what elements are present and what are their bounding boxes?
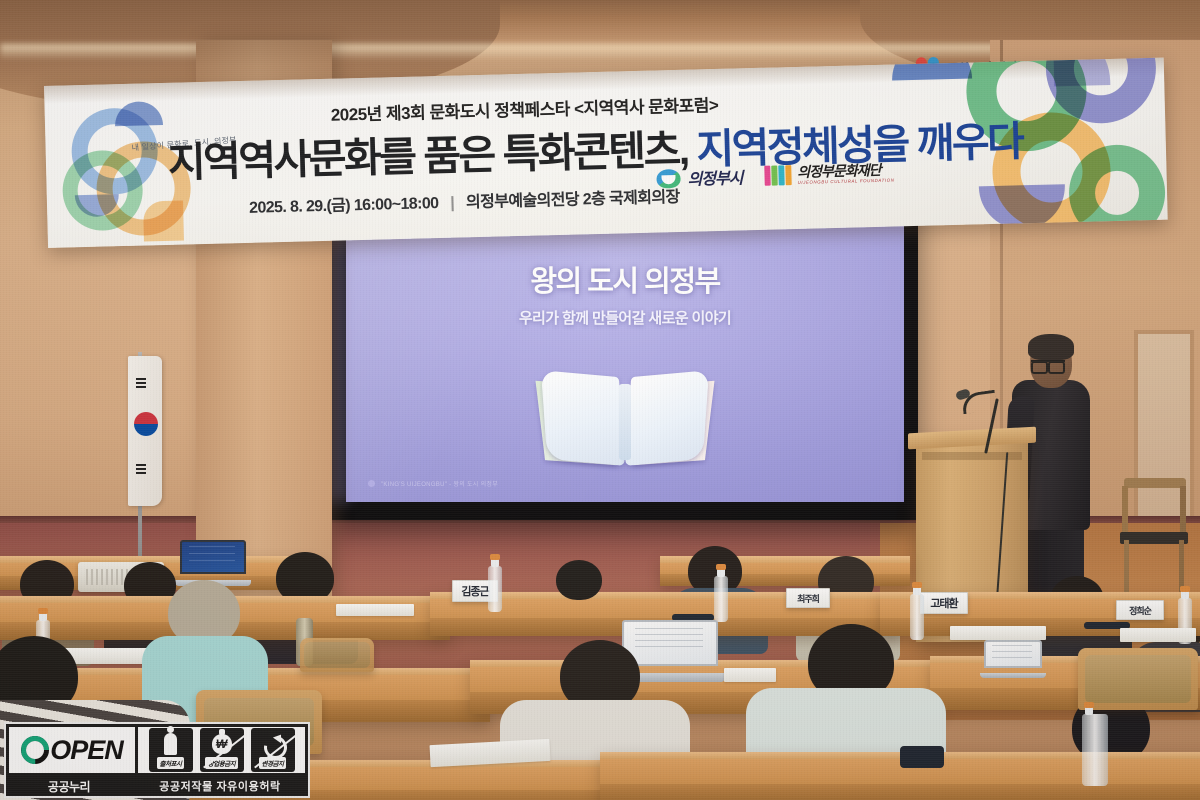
water-bottle bbox=[714, 576, 728, 622]
kogl-license-badge: OPEN 출처표시 ₩ 상업용금지 변경금지 공공 bbox=[4, 722, 310, 798]
water-bottle bbox=[910, 594, 924, 640]
banner-separator: | bbox=[442, 194, 462, 211]
no-derivative-icon: 변경금지 bbox=[251, 728, 295, 772]
flag-trigram bbox=[136, 472, 146, 474]
notepad bbox=[724, 668, 776, 682]
glasses-icon bbox=[1031, 360, 1065, 369]
flag-trigram bbox=[136, 382, 146, 384]
book-page-left bbox=[541, 370, 625, 466]
open-circle-icon bbox=[21, 736, 49, 764]
logo-foundation-text: 의정부문화재단 bbox=[797, 162, 894, 178]
no-commercial-icon: ₩ 상업용금지 bbox=[200, 728, 244, 772]
nameplate-text: 최주희 bbox=[797, 592, 819, 605]
flag-trigram bbox=[136, 468, 146, 470]
book-page-right bbox=[625, 370, 709, 466]
open-book-illustration bbox=[540, 358, 710, 462]
foundation-logo-icon bbox=[764, 165, 791, 186]
nameplate-text: 정희순 bbox=[1129, 604, 1151, 617]
credit-dot-icon bbox=[368, 480, 375, 487]
logo-uijeongbu-city-text: 의정부시 bbox=[687, 164, 742, 189]
city-logo-icon bbox=[656, 168, 680, 188]
flag-trigram bbox=[136, 378, 146, 380]
logo-foundation-english: UIJEONGBU CULTURAL FOUNDATION bbox=[798, 178, 895, 185]
nameplate: 최주희 bbox=[786, 588, 830, 608]
nameplate-text: 김종근 bbox=[461, 583, 488, 599]
document-paper bbox=[336, 604, 414, 616]
slide-credit-text: "KING'S UIJEONGBU" - 왕의 도시 의정부 bbox=[381, 479, 498, 488]
laptop[interactable] bbox=[984, 640, 1042, 678]
flag-trigram bbox=[136, 386, 146, 388]
projection-screen: 왕의 도시 의정부 우리가 함께 만들어갈 새로운 이야기 "KING'S UI… bbox=[346, 210, 904, 502]
banner-date: 2025. 8. 29.(금) 16:00~18:00 bbox=[249, 195, 439, 217]
water-bottle bbox=[488, 566, 502, 612]
kogl-condition-label: 출처표시 bbox=[157, 757, 185, 769]
photo-scene: 왕의 도시 의정부 우리가 함께 만들어갈 새로운 이야기 "KING'S UI… bbox=[0, 0, 1200, 800]
logo-uijeongbu-city: 의정부시 bbox=[656, 164, 742, 190]
chair-leg-left bbox=[1124, 540, 1129, 594]
logo-cultural-foundation: 의정부문화재단 UIJEONGBU CULTURAL FOUNDATION bbox=[764, 162, 894, 186]
chair-seat bbox=[1120, 532, 1188, 544]
attribution-icon: 출처표시 bbox=[149, 728, 193, 772]
nameplate-text: 고태환 bbox=[930, 595, 957, 611]
phone[interactable] bbox=[900, 746, 944, 768]
nameplate: 정희순 bbox=[1116, 600, 1164, 620]
kogl-condition-icons: 출처표시 ₩ 상업용금지 변경금지 bbox=[138, 727, 305, 773]
audience-chair bbox=[300, 638, 374, 672]
kogl-brand-sub: 공공누리 bbox=[6, 778, 132, 795]
chair-back bbox=[1124, 478, 1186, 488]
kogl-brand-text: OPEN bbox=[50, 737, 123, 764]
banner-logos: 의정부시 의정부문화재단 UIJEONGBU CULTURAL FOUNDATI… bbox=[656, 161, 894, 191]
audience-chair bbox=[1078, 648, 1198, 710]
slide-title: 왕의 도시 의정부 bbox=[346, 258, 904, 300]
slide-subtitle: 우리가 함께 만들어갈 새로운 이야기 bbox=[346, 307, 904, 328]
banner-title-part1: 지역역사문화를 품은 특화콘텐츠, bbox=[167, 127, 688, 186]
document-paper bbox=[950, 626, 1046, 640]
book-spine bbox=[619, 384, 631, 460]
laptop[interactable] bbox=[180, 540, 246, 586]
event-banner: 내 일상이 문화로, 도시, 의정부 2025년 제3회 문화도시 정책페스타 … bbox=[44, 58, 1168, 248]
chair-arm-left bbox=[1122, 486, 1128, 536]
water-bottle bbox=[1082, 714, 1108, 786]
banner-meta: 2025. 8. 29.(금) 16:00~18:00 | 의정부예술의전당 2… bbox=[249, 183, 680, 218]
chair-arm-right bbox=[1180, 486, 1186, 536]
flag-trigram bbox=[136, 464, 146, 466]
speaker-hair bbox=[1028, 334, 1074, 360]
nameplate: 고태환 bbox=[920, 592, 968, 614]
kogl-open-logo: OPEN bbox=[9, 727, 135, 773]
document-paper bbox=[1120, 628, 1196, 642]
taeguk-circle-icon bbox=[134, 412, 158, 436]
slide-credit: "KING'S UIJEONGBU" - 왕의 도시 의정부 bbox=[368, 479, 498, 488]
banner-location: 의정부예술의전당 2층 국제회의장 bbox=[466, 189, 680, 211]
stage-chair bbox=[1118, 478, 1190, 596]
kogl-notice: 공공저작물 자유이용허락 bbox=[132, 778, 308, 794]
